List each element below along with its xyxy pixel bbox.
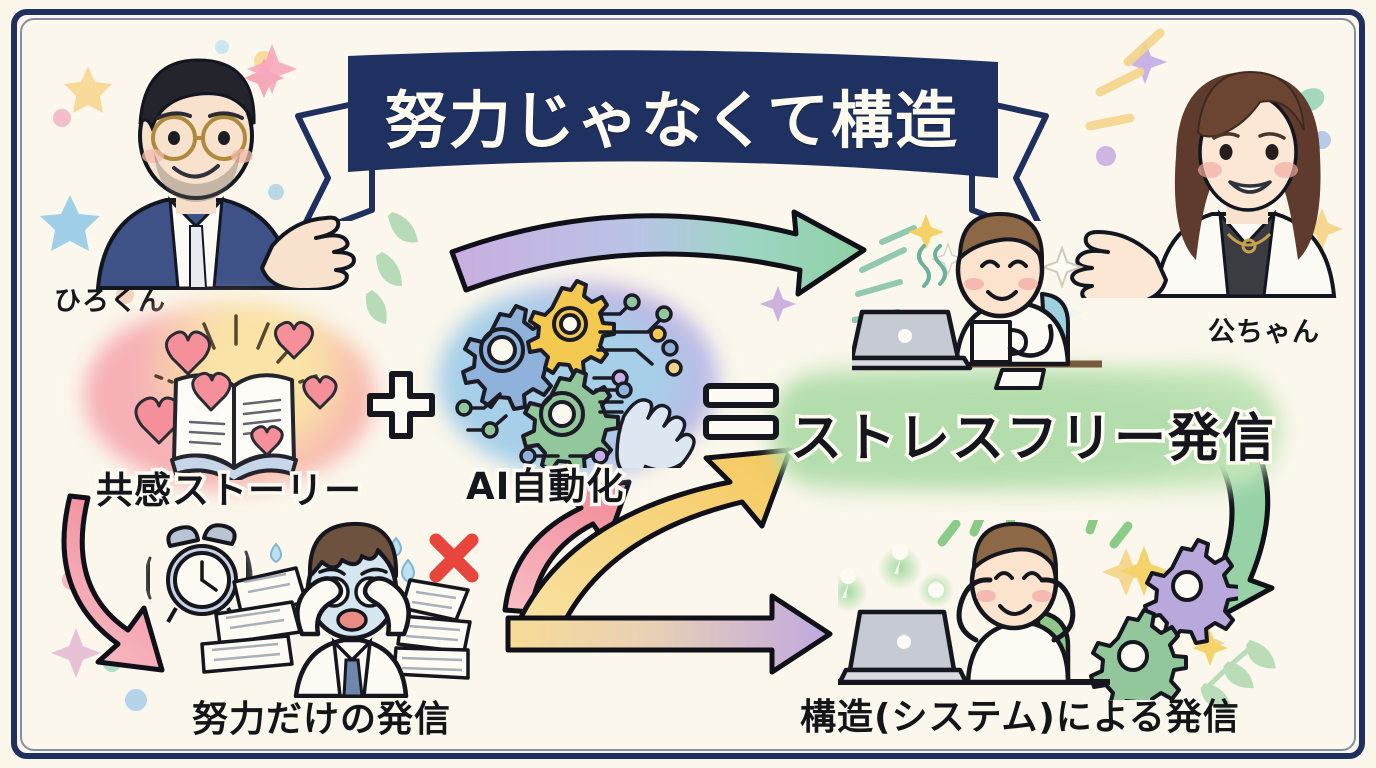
heart-icon <box>304 377 336 408</box>
ai-gears-icon <box>448 278 708 468</box>
relaxed-person-scene <box>838 520 1238 700</box>
ribbon-band <box>348 50 998 178</box>
open-book-icon <box>120 300 350 480</box>
robot-hand-icon <box>617 400 694 468</box>
coffee-person-scene <box>852 208 1182 398</box>
idea-glow-icon <box>838 544 954 612</box>
system-posting-label: 構造(システム)による発信 <box>800 688 1240 740</box>
heart-icon <box>166 332 209 374</box>
heart-icon <box>275 322 312 358</box>
red-x-icon <box>436 540 472 576</box>
sparkle-icon <box>51 628 101 678</box>
plus-operator <box>364 368 438 442</box>
sparkle-icon <box>1043 248 1081 286</box>
leaf-sprig-icon <box>366 212 418 324</box>
stress-free-result-label: ストレスフリー発信 <box>790 396 1276 471</box>
effort-only-label: 努力だけの発信 <box>192 690 451 742</box>
character-right-label: 公ちゃん <box>1208 310 1320 349</box>
equals-operator <box>700 380 784 444</box>
stressed-person-scene <box>146 518 496 698</box>
ai-automation-label: AI自動化 <box>466 456 624 510</box>
character-left-portrait <box>58 40 358 290</box>
sparkle-icon <box>760 286 796 322</box>
gear-icon <box>1145 540 1238 643</box>
dot-decoration <box>125 689 147 711</box>
title-banner: 努力じゃなくて構造 <box>292 46 1052 221</box>
empathy-story-label: 共感ストーリー <box>96 460 362 514</box>
infographic-canvas: 努力じゃなくて構造 ひろくん <box>0 0 1376 768</box>
